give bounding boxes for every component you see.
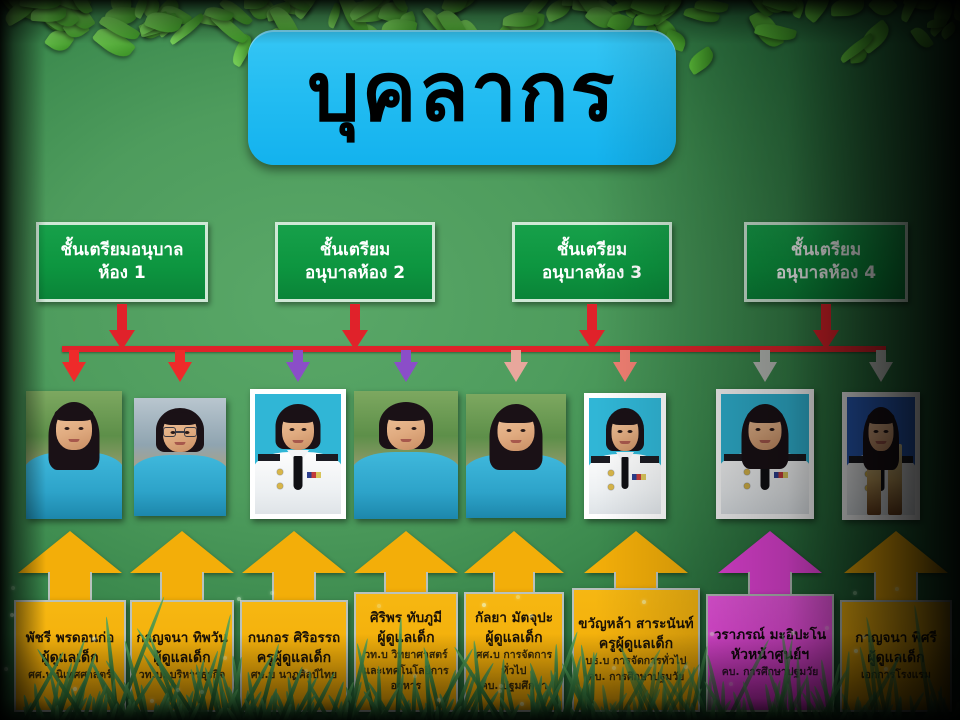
leaf-icon	[440, 0, 479, 16]
staff-name: กัลยา มัตจุปะ	[475, 610, 553, 627]
leaf-icon	[52, 0, 91, 15]
staff-education-line: ทั่วไป	[502, 665, 527, 679]
leaf-icon	[137, 11, 171, 36]
staff-card-2[interactable]: กาญจนา ทิพวันผู้ดูแลเด็กวท.บ. บริหารธุรก…	[130, 600, 234, 712]
leaf-icon	[927, 19, 947, 28]
class-connector-arrowhead-4	[813, 330, 839, 350]
leaf-icon	[656, 0, 684, 16]
leaf-icon	[154, 11, 183, 38]
leaf-icon	[562, 0, 580, 7]
staff-role: ผู้ดูแลเด็ก	[867, 649, 924, 667]
staff-education-line: ศศ.บ การจัดการ	[476, 649, 552, 663]
leaf-icon	[516, 0, 554, 24]
leaf-icon	[799, 0, 836, 24]
leaf-icon	[389, 0, 408, 13]
staff-education-line: ศศ.บ นิเทศศาสตร์	[28, 669, 111, 683]
leaf-icon	[325, 3, 343, 29]
staff-education-line: วท.บ. บริหารธุรกิจ	[139, 669, 225, 683]
staff-up-arrowhead-2	[130, 531, 234, 573]
leaf-icon	[98, 11, 141, 45]
leaf-icon	[685, 45, 718, 74]
staff-up-arrowhead-1	[18, 531, 122, 573]
leaf-icon	[868, 0, 898, 21]
leaf-icon	[287, 0, 311, 17]
leaf-icon	[754, 20, 797, 44]
leaf-icon	[634, 13, 661, 27]
staff-photo-image	[26, 391, 122, 519]
staff-connector-arrowhead-5	[504, 362, 528, 382]
leaf-icon	[929, 0, 957, 29]
leaf-icon	[762, 0, 797, 15]
leaf-icon	[55, 0, 92, 17]
leaf-icon	[746, 0, 774, 20]
leaf-icon	[149, 0, 184, 30]
leaf-icon	[584, 1, 618, 34]
leaf-icon	[62, 15, 90, 42]
leaf-icon	[903, 0, 937, 14]
staff-photo-2[interactable]	[134, 398, 226, 516]
leaf-icon	[45, 0, 81, 32]
staff-photo-7[interactable]	[716, 389, 814, 519]
staff-card-6[interactable]: ขวัญหล้า สาระนันท์ครูผู้ดูแลเด็กบธ.บ การ…	[572, 588, 700, 712]
leaf-icon	[596, 0, 625, 25]
staff-name: ขวัญหล้า สาระนันท์	[578, 616, 693, 633]
class-box-room2[interactable]: ชั้นเตรียมอนุบาลห้อง 2	[275, 222, 435, 302]
leaf-icon	[249, 0, 274, 24]
staff-name: กาญจนา พิศรี	[855, 630, 936, 647]
staff-up-arrowhead-4	[354, 531, 458, 573]
leaf-icon	[927, 12, 952, 38]
class-connector-arrowhead-1	[109, 330, 135, 350]
staff-photo-4[interactable]	[354, 391, 458, 519]
staff-name: วราภรณ์ มะอิปะโน	[714, 627, 826, 644]
staff-connector-arrowhead-4	[394, 362, 418, 382]
leaf-icon	[264, 1, 292, 21]
leaf-icon	[625, 0, 650, 20]
leaf-icon	[910, 24, 934, 51]
leaf-icon	[378, 0, 408, 26]
leaf-icon	[67, 3, 96, 34]
leaf-icon	[348, 0, 384, 18]
class-box-line: อนุบาลห้อง 4	[776, 262, 876, 285]
leaf-icon	[897, 0, 925, 23]
leaf-icon	[789, 0, 806, 18]
leaf-icon	[140, 0, 164, 19]
staff-education-line: คบ. ปฐมศึกษา	[481, 680, 548, 694]
leaf-icon	[630, 0, 665, 19]
staff-photo-image	[255, 394, 341, 514]
leaf-icon	[244, 0, 269, 9]
dew-dot-icon	[853, 591, 857, 595]
leaf-icon	[622, 0, 646, 19]
staff-connector-arrowhead-2	[168, 362, 192, 382]
leaf-icon	[106, 0, 135, 18]
staff-card-8[interactable]: กาญจนา พิศรีผู้ดูแลเด็กเอกการโรงแรม	[840, 600, 952, 712]
leaf-icon	[581, 0, 616, 26]
class-connector-arrowhead-3	[579, 330, 605, 350]
staff-photo-1[interactable]	[26, 391, 122, 519]
staff-education-line: บธ.บ การจัดการทั่วไป	[586, 655, 687, 669]
leaf-icon	[503, 12, 538, 27]
leaf-icon	[831, 0, 864, 16]
staff-connector-arrowhead-8	[869, 362, 893, 382]
class-box-room1[interactable]: ชั้นเตรียมอนุบาลห้อง 1	[36, 222, 208, 302]
grass-blade-icon	[955, 702, 960, 720]
staff-role: หัวหน้าศูนย์ฯ	[731, 646, 809, 664]
staff-up-arrowhead-5	[464, 531, 564, 573]
leaf-icon	[5, 0, 41, 25]
leaf-icon	[763, 0, 792, 18]
leaf-icon	[372, 0, 398, 16]
leaf-icon	[211, 10, 249, 47]
leaf-icon	[777, 0, 800, 15]
personnel-org-chart: บุคลากร ชั้นเตรียมอนุบาลห้อง 1ชั้นเตรียม…	[0, 0, 960, 720]
leaf-icon	[850, 46, 868, 64]
leaf-icon	[141, 0, 166, 25]
glasses-icon	[163, 427, 197, 437]
staff-education-line: คบ. การศึกษาปฐมวัย	[588, 671, 685, 685]
staff-education-line: และเทคโนโลยีการ	[363, 665, 448, 679]
staff-education-line: คบ. การศึกษาปฐมวัย	[722, 666, 819, 680]
leaf-icon	[46, 13, 71, 36]
staff-role: ผู้ดูแลเด็ก	[485, 629, 542, 647]
staff-education-line: เอกการโรงแรม	[861, 669, 931, 683]
leaf-icon	[949, 0, 960, 22]
staff-connector-arrowhead-3	[286, 362, 310, 382]
staff-card-5[interactable]: กัลยา มัตจุปะผู้ดูแลเด็กศศ.บ การจัดการทั…	[464, 592, 564, 712]
leaf-icon	[167, 12, 207, 45]
leaf-icon	[204, 4, 234, 25]
leaf-icon	[355, 7, 388, 23]
class-box-label: ชั้นเตรียมอนุบาลห้อง 2	[305, 239, 405, 285]
leaf-icon	[572, 0, 608, 14]
staff-name: กาญจนา ทิพวัน	[136, 630, 227, 647]
staff-connector-arrowhead-1	[62, 362, 86, 382]
leaf-icon	[575, 0, 609, 26]
staff-card-4[interactable]: ศิริพร ทับภูมีผู้ดูแลเด็กวท.บ วิทยาศาสตร…	[354, 592, 458, 712]
class-box-line: อนุบาลห้อง 3	[542, 262, 642, 285]
staff-education-line: ศษ.บ นาฏศิลป์ไทย	[251, 669, 337, 683]
leaf-icon	[132, 0, 151, 19]
leaf-icon	[248, 0, 280, 23]
staff-up-arrowhead-7	[718, 531, 822, 573]
staff-photo-3[interactable]	[250, 389, 346, 519]
leaf-icon	[31, 5, 67, 22]
staff-connector-arrowhead-6	[613, 362, 637, 382]
leaf-icon	[289, 0, 324, 20]
staff-name: กนกอร ศิริอรรถ	[248, 630, 340, 647]
class-box-line: ชั้นเตรียม	[542, 239, 642, 262]
class-box-line: อนุบาลห้อง 2	[305, 262, 405, 285]
staff-card-3[interactable]: กนกอร ศิริอรรถครูผู้ดูแลเด็กศษ.บ นาฏศิลป…	[240, 600, 348, 712]
class-box-line: ชั้นเตรียมอนุบาล	[61, 239, 184, 262]
leaf-icon	[282, 0, 311, 15]
staff-up-arrowhead-3	[242, 531, 346, 573]
class-connector-arrowhead-2	[342, 330, 368, 350]
staff-photo-image	[354, 391, 458, 519]
leaf-icon	[160, 1, 193, 29]
staff-role: ผู้ดูแลเด็ก	[41, 649, 98, 667]
leaf-icon	[938, 21, 958, 40]
leaf-icon	[642, 0, 671, 17]
leaf-icon	[543, 0, 574, 23]
leaf-icon	[748, 7, 785, 51]
staff-photo-8[interactable]	[842, 392, 920, 520]
leaf-icon	[612, 0, 634, 14]
staff-photo-image	[589, 398, 661, 514]
staff-photo-6[interactable]	[584, 393, 666, 519]
leaf-icon	[346, 0, 388, 21]
leaf-icon	[139, 19, 161, 41]
leaf-icon	[104, 6, 136, 25]
class-box-label: ชั้นเตรียมอนุบาลห้อง 4	[776, 239, 876, 285]
leaf-icon	[441, 0, 469, 16]
leaf-icon	[856, 18, 894, 54]
class-box-label: ชั้นเตรียมอนุบาลห้อง 1	[61, 239, 184, 285]
page-title: บุคลากร	[308, 52, 617, 144]
leaf-icon	[694, 0, 728, 15]
grass-blade-icon	[953, 689, 960, 720]
class-box-room3[interactable]: ชั้นเตรียมอนุบาลห้อง 3	[512, 222, 672, 302]
class-box-line: ชั้นเตรียม	[776, 239, 876, 262]
staff-role: ครูผู้ดูแลเด็ก	[599, 635, 673, 653]
staff-photo-image	[847, 397, 915, 515]
class-box-line: ชั้นเตรียม	[305, 239, 405, 262]
leaf-icon	[91, 22, 135, 63]
class-box-line: ห้อง 1	[61, 262, 184, 285]
staff-photo-image	[721, 394, 809, 514]
leaf-icon	[644, 0, 687, 26]
staff-connector-arrowhead-7	[753, 362, 777, 382]
leaf-icon	[0, 0, 30, 20]
class-box-label: ชั้นเตรียมอนุบาลห้อง 3	[542, 239, 642, 285]
page-title-banner: บุคลากร	[248, 30, 676, 165]
leaf-icon	[144, 8, 184, 38]
leaf-icon	[218, 0, 252, 29]
dew-dot-icon	[4, 667, 8, 671]
staff-name: พัชรี พรดอนก่อ	[26, 630, 115, 647]
leaf-icon	[70, 0, 93, 16]
leaf-icon	[645, 0, 671, 10]
leaf-icon	[610, 0, 640, 13]
staff-up-arrowhead-8	[844, 531, 948, 573]
leaf-icon	[44, 25, 74, 55]
leaf-icon	[2, 0, 40, 27]
class-box-room4[interactable]: ชั้นเตรียมอนุบาลห้อง 4	[744, 222, 908, 302]
staff-photo-5[interactable]	[466, 394, 566, 518]
leaf-icon	[19, 0, 62, 12]
staff-education-line: วท.บ วิทยาศาสตร์	[364, 649, 447, 663]
leaf-icon	[200, 9, 233, 28]
leaf-icon	[368, 0, 404, 13]
leaf-icon	[102, 21, 125, 42]
leaf-icon	[63, 0, 83, 13]
staff-education-line: อาหาร	[391, 680, 422, 694]
staff-card-7[interactable]: วราภรณ์ มะอิปะโนหัวหน้าศูนย์ฯคบ. การศึกษ…	[706, 594, 834, 712]
leaf-icon	[33, 0, 67, 35]
staff-role: ผู้ดูแลเด็ก	[153, 649, 210, 667]
staff-photo-image	[134, 398, 226, 516]
leaf-icon	[138, 13, 179, 38]
staff-name: ศิริพร ทับภูมี	[370, 610, 442, 627]
staff-role: ครูผู้ดูแลเด็ก	[257, 649, 331, 667]
dew-dot-icon	[11, 586, 15, 590]
staff-role: ผู้ดูแลเด็ก	[377, 629, 434, 647]
staff-up-arrowhead-6	[584, 531, 688, 573]
staff-card-1[interactable]: พัชรี พรดอนก่อผู้ดูแลเด็กศศ.บ นิเทศศาสตร…	[14, 600, 126, 712]
leaf-icon	[683, 4, 720, 27]
leaf-icon	[838, 32, 877, 63]
staff-photo-image	[466, 394, 566, 518]
leaf-icon	[6, 0, 35, 14]
